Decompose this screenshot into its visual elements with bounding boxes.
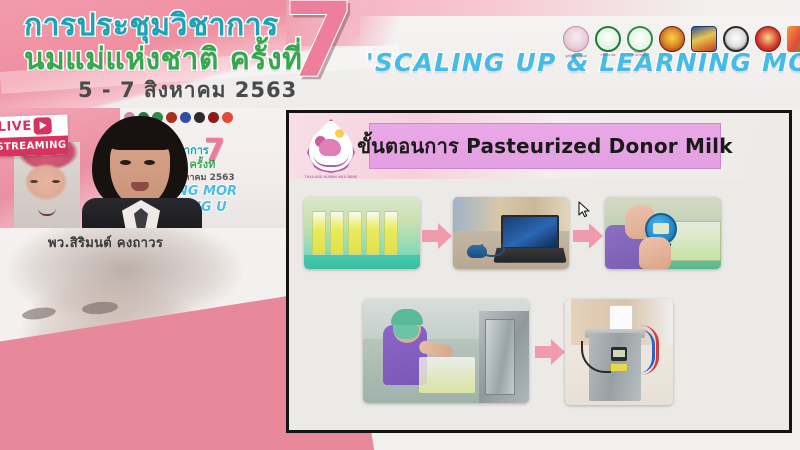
computer-mouse: [467, 245, 487, 258]
presenter-mouth: [131, 182, 149, 191]
thaihealth-logo: [787, 26, 800, 52]
conference-tagline: 'SCALING UP & LEARNING MORE': [366, 48, 800, 77]
slide-title-banner: ขั้นตอนการ Pasteurized Donor Milk: [369, 123, 721, 169]
presenter-bangs: [104, 124, 178, 150]
milk-bottle: [312, 211, 326, 255]
presentation-slide-panel[interactable]: THAILAND HUMAN MILK BANK ขั้นตอนการ Past…: [286, 110, 792, 433]
logo-caption: กระทรวงสาธารณสุข: [629, 51, 651, 57]
milk-bottle: [384, 211, 398, 255]
milk-bottle: [330, 211, 344, 255]
speaker-name: พว.สิริมนต์ คงถาวร: [48, 232, 163, 253]
backdrop-logo-7: [208, 112, 219, 123]
live-label: LIVE: [0, 119, 32, 135]
surgical-mask: [393, 325, 419, 339]
thermometer-display: [653, 223, 669, 234]
crest-multicolor-logo: [691, 26, 717, 52]
pasteurizer-control-panel: [611, 347, 627, 361]
presenter-video-panel[interactable]: การประชุมวิชาการ นมแม่แห่งชาติ ครั้งที่ …: [0, 108, 288, 228]
presenter-figure: [78, 116, 204, 228]
backdrop-child-eye-left: [30, 180, 38, 183]
pasteurizer-warning-label: [610, 363, 628, 372]
photo-laptop-record: [453, 197, 569, 269]
photo1-floor: [304, 255, 420, 269]
laptop-screen: [501, 215, 559, 249]
backdrop-edition-number: 7: [204, 136, 225, 166]
milk-bottle-tray: [419, 357, 475, 393]
milk-bank-logo-caption: THAILAND HUMAN MILK BANK: [303, 175, 359, 179]
milk-bottle: [348, 211, 362, 255]
milk-drop-droplet-icon: [335, 129, 344, 138]
red-crest-logo: [755, 26, 781, 52]
conference-header: การประชุมวิชาการ นมแม่แห่งชาติ ครั้งที่ …: [0, 0, 800, 108]
photo-thermometer-check: [605, 197, 721, 269]
slide-title: ขั้นตอนการ Pasteurized Donor Milk: [357, 130, 732, 162]
arrow-head: [551, 339, 565, 365]
human-milk-bank-drop-logo: THAILAND HUMAN MILK BANK: [301, 117, 361, 179]
logo-caption: กรมอนามัย: [597, 54, 619, 57]
photo-pasteurizer-machine: [565, 299, 673, 405]
photo4-machine-door: [485, 319, 515, 395]
black-seal-logo: [723, 26, 749, 52]
conference-date: 5 - 7 สิงหาคม 2563: [78, 74, 297, 107]
logo-caption: มูลนิธิศูนย์นมแม่: [564, 55, 588, 58]
presenter-eye-left: [120, 160, 131, 165]
backdrop-child-eye-right: [52, 180, 60, 183]
photo-milk-bottles-storage: [304, 197, 420, 269]
milk-bottle: [366, 211, 380, 255]
backdrop-logo-8: [222, 112, 233, 123]
backdrop-child-mouth: [38, 208, 56, 216]
live-streaming-badge: LIVE STREAMING: [0, 115, 69, 158]
live-badge-bottom: STREAMING: [0, 136, 69, 158]
arrow-head: [438, 223, 452, 249]
thai-emblem-logo: [659, 26, 685, 52]
technician-hand-lower: [639, 237, 671, 269]
green-caduceus-logo: กระทรวงสาธารณสุข: [627, 26, 653, 52]
play-icon: [33, 117, 52, 135]
photo-nurse-handling-milk: [363, 299, 529, 403]
sponsor-logo-row: มูลนิธิศูนย์นมแม่ กรมอนามัย กระทรวงสาธาร…: [563, 26, 800, 52]
arrow-head: [589, 223, 603, 249]
surgical-cap: [391, 309, 423, 325]
presenter-eye-right: [144, 160, 155, 165]
royal-patronage-logo: มูลนิธิศูนย์นมแม่: [563, 26, 589, 52]
green-shield-logo: กรมอนามัย: [595, 26, 621, 52]
screenshot-root: การประชุมวิชาการ นมแม่แห่งชาติ ครั้งที่ …: [0, 0, 800, 450]
streaming-label: STREAMING: [0, 140, 67, 153]
